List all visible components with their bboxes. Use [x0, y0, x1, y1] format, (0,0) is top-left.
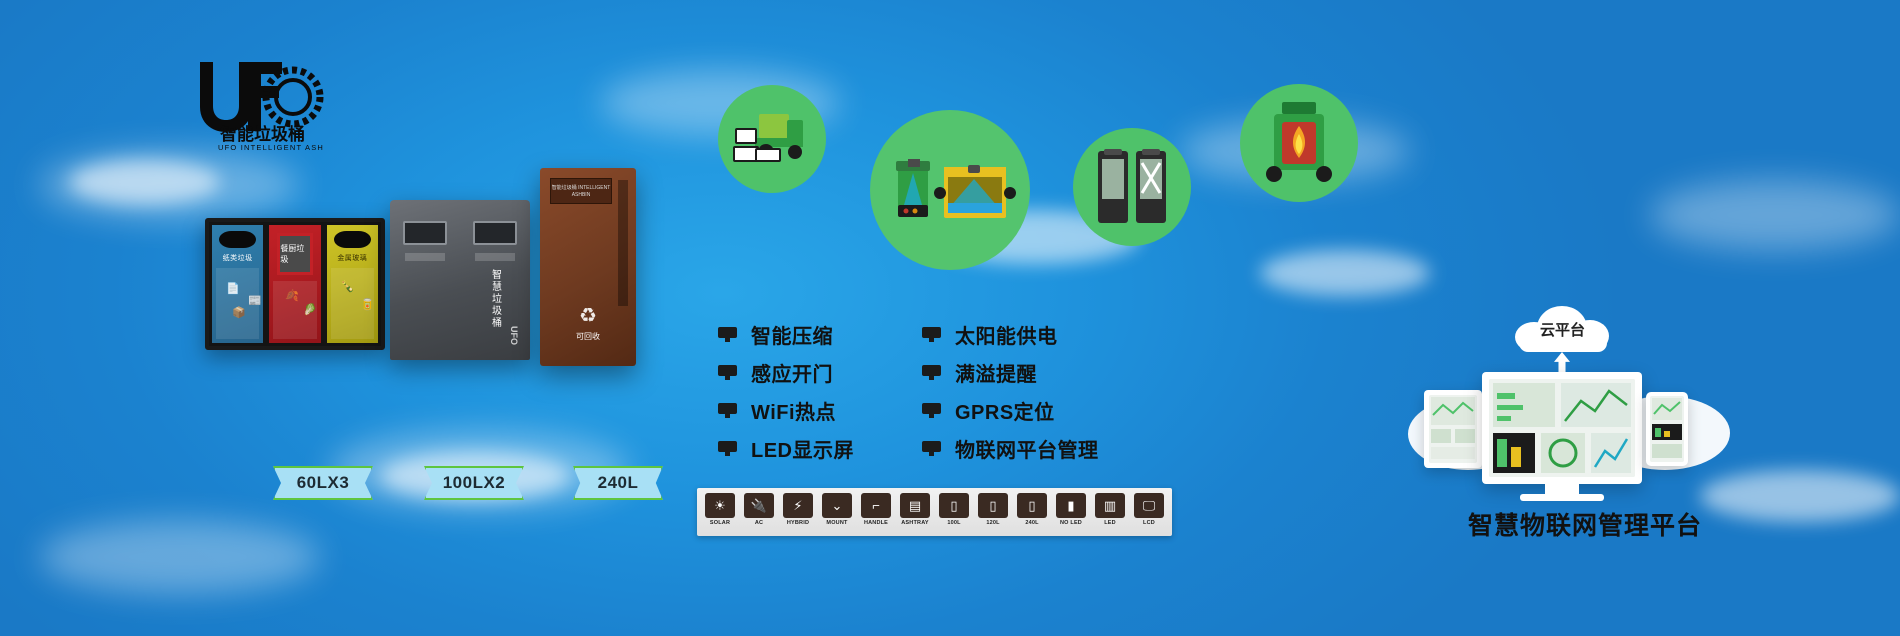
- mount-icon[interactable]: ⌄MOUNT: [820, 493, 854, 531]
- spec-icon-label: 240L: [1025, 520, 1038, 526]
- fleet-management-icon: [733, 108, 811, 170]
- hybrid-icon[interactable]: ⚡HYBRID: [781, 493, 815, 531]
- capacity-120l-icon-glyph: ▯: [978, 493, 1008, 518]
- capacity-240l-icon-glyph: ▯: [1017, 493, 1047, 518]
- spec-icon-label: 100L: [947, 520, 960, 526]
- feature-column-left: 智能压缩 感应开门 WiFi热点 LED显示屏: [718, 320, 854, 463]
- feature-item: 智能压缩: [718, 320, 854, 349]
- spec-icon-label: NO LED: [1060, 520, 1082, 526]
- lcd-icon-glyph: 🖵: [1134, 493, 1164, 518]
- handle-icon-glyph: ⌐: [861, 493, 891, 518]
- feature-item: LED显示屏: [718, 434, 854, 463]
- solar-icon-glyph: ☀: [705, 493, 735, 518]
- feature-item: 太阳能供电: [922, 320, 1099, 349]
- ac-plug-icon-glyph: 🔌: [744, 493, 774, 518]
- compaction-icon: [1090, 145, 1174, 229]
- monitor-bullet-icon: [922, 403, 941, 418]
- ashtray-icon-glyph: ▤: [900, 493, 930, 518]
- feature-label: WiFi热点: [751, 396, 836, 425]
- bin-graphic-panel: 🍂 🥬: [273, 281, 316, 339]
- bin-trim: [405, 253, 445, 261]
- feature-column-right: 太阳能供电 满溢提醒 GPRS定位 物联网平台管理: [922, 320, 1099, 463]
- led-icon[interactable]: ▥LED: [1093, 493, 1127, 531]
- bin-trim: [475, 253, 515, 261]
- monitor-bullet-icon: [718, 365, 737, 380]
- spec-icon-label: LCD: [1143, 520, 1155, 526]
- spec-icon-label: 120L: [986, 520, 999, 526]
- double-bin-right-cell: 智慧垃圾桶 UFO: [465, 205, 525, 355]
- ashtray-icon[interactable]: ▤ASHTRAY: [898, 493, 932, 531]
- double-bin-side-text: 智慧垃圾桶: [488, 269, 503, 329]
- no-led-icon[interactable]: ▮NO LED: [1054, 493, 1088, 531]
- bin-cell-label: 纸类垃圾: [212, 251, 263, 263]
- bin-cell-metal-glass: 金属玻璃 🍾 🥫: [327, 225, 378, 343]
- feature-label: LED显示屏: [751, 434, 854, 463]
- spec-icon-label: LED: [1104, 520, 1116, 526]
- upload-arrow-icon: [1554, 352, 1570, 374]
- bin-graphic-panel: 📄 📰 📦: [216, 268, 259, 339]
- single-bin-240l[interactable]: 智能垃圾桶 INTELLIGENT ASHBIN ♻ 可回收: [540, 168, 636, 366]
- solar-icon[interactable]: ☀SOLAR: [703, 493, 737, 531]
- capacity-100l-icon[interactable]: ▯100L: [937, 493, 971, 531]
- monitor-base: [1520, 494, 1604, 501]
- feature-item: 满溢提醒: [922, 358, 1099, 387]
- ac-plug-icon[interactable]: 🔌AC: [742, 493, 776, 531]
- recycle-symbol-icon: ♻: [579, 303, 597, 328]
- feature-label: 太阳能供电: [955, 320, 1058, 349]
- spec-icon-label: HYBRID: [787, 520, 809, 526]
- double-bin-brand: UFO: [509, 326, 519, 345]
- single-bin-side-stripe: [618, 180, 628, 306]
- monitor-bullet-icon: [922, 441, 941, 456]
- handle-icon[interactable]: ⌐HANDLE: [859, 493, 893, 531]
- cloud-platform-badge[interactable]: 云平台: [1515, 306, 1610, 352]
- double-bin-100lx2[interactable]: 智慧垃圾桶 UFO: [390, 200, 530, 360]
- spec-icon-label: HANDLE: [864, 520, 888, 526]
- mount-icon-glyph: ⌄: [822, 493, 852, 518]
- bin-slot: [334, 231, 371, 248]
- product-label-100lx2: 100LX2: [424, 466, 524, 500]
- monitor-bullet-icon: [718, 327, 737, 342]
- feature-circle-dualbin[interactable]: [1073, 128, 1191, 246]
- bin-cell-food: 餐厨垃圾 🍂 🥬: [269, 225, 320, 343]
- single-bin-display-panel: 智能垃圾桶 INTELLIGENT ASHBIN: [550, 178, 612, 204]
- feature-circle-fleet[interactable]: [718, 85, 826, 193]
- double-bin-left-cell: [395, 205, 455, 355]
- single-bin-recycle-label: 可回收: [540, 331, 636, 342]
- product-bins-group: 纸类垃圾 📄 📰 📦 餐厨垃圾 🍂 🥬 金属玻璃 🍾 🥫: [0, 0, 700, 480]
- feature-circle-compaction[interactable]: [870, 110, 1030, 270]
- monitor-bullet-icon: [922, 365, 941, 380]
- phone-device[interactable]: [1646, 392, 1688, 466]
- feature-label: 物联网平台管理: [955, 434, 1099, 463]
- bin-graphic-panel: 🍾 🥫: [331, 268, 374, 339]
- dual-bin-icon: [884, 153, 1016, 227]
- feature-item: GPRS定位: [922, 396, 1099, 425]
- bin-cell-paper: 纸类垃圾 📄 📰 📦: [212, 225, 263, 343]
- triple-bin-60lx3[interactable]: 纸类垃圾 📄 📰 📦 餐厨垃圾 🍂 🥬 金属玻璃 🍾 🥫: [205, 218, 385, 350]
- bin-slot: [219, 231, 256, 248]
- desktop-monitor[interactable]: [1482, 372, 1642, 484]
- feature-item: WiFi热点: [718, 396, 854, 425]
- tablet-device[interactable]: [1424, 390, 1482, 468]
- spec-icon-label: ASHTRAY: [901, 520, 928, 526]
- lcd-icon[interactable]: 🖵LCD: [1132, 493, 1166, 531]
- led-icon-glyph: ▥: [1095, 493, 1125, 518]
- capacity-120l-icon[interactable]: ▯120L: [976, 493, 1010, 531]
- spec-icon-label: AC: [755, 520, 763, 526]
- bin-slot: [403, 221, 447, 245]
- bin-cell-label: 金属玻璃: [327, 251, 378, 263]
- monitor-screen: [1489, 379, 1635, 477]
- spec-icon-strip: ☀SOLAR🔌AC⚡HYBRID⌄MOUNT⌐HANDLE▤ASHTRAY▯10…: [697, 488, 1172, 536]
- bin-slot: [473, 221, 517, 245]
- feature-list: 智能压缩 感应开门 WiFi热点 LED显示屏 太阳能供电 满溢提醒 GPRS定…: [718, 320, 1099, 463]
- monitor-bullet-icon: [922, 327, 941, 342]
- no-led-icon-glyph: ▮: [1056, 493, 1086, 518]
- phone-screen: [1650, 396, 1684, 462]
- monitor-bullet-icon: [718, 403, 737, 418]
- platform-caption: 智慧物联网管理平台: [1435, 506, 1735, 542]
- bin-cell-label: 餐厨垃圾: [277, 233, 312, 275]
- capacity-100l-icon-glyph: ▯: [939, 493, 969, 518]
- feature-circle-firealarm[interactable]: [1240, 84, 1358, 202]
- feature-item: 物联网平台管理: [922, 434, 1099, 463]
- cloud-platform-label: 云平台: [1515, 306, 1610, 352]
- feature-label: 感应开门: [751, 358, 833, 387]
- single-bin-panel-text: 智能垃圾桶 INTELLIGENT ASHBIN: [551, 179, 611, 199]
- spec-icon-label: SOLAR: [710, 520, 730, 526]
- tablet-screen: [1429, 395, 1477, 463]
- feature-item: 感应开门: [718, 358, 854, 387]
- capacity-240l-icon[interactable]: ▯240L: [1015, 493, 1049, 531]
- spec-icon-label: MOUNT: [826, 520, 847, 526]
- monitor-bullet-icon: [718, 441, 737, 456]
- fire-alarm-icon: [1260, 102, 1338, 184]
- product-label-60lx3: 60LX3: [273, 466, 373, 500]
- feature-label: 满溢提醒: [955, 358, 1037, 387]
- product-label-240l: 240L: [573, 466, 663, 500]
- hybrid-icon-glyph: ⚡: [783, 493, 813, 518]
- feature-label: GPRS定位: [955, 396, 1055, 425]
- feature-label: 智能压缩: [751, 320, 833, 349]
